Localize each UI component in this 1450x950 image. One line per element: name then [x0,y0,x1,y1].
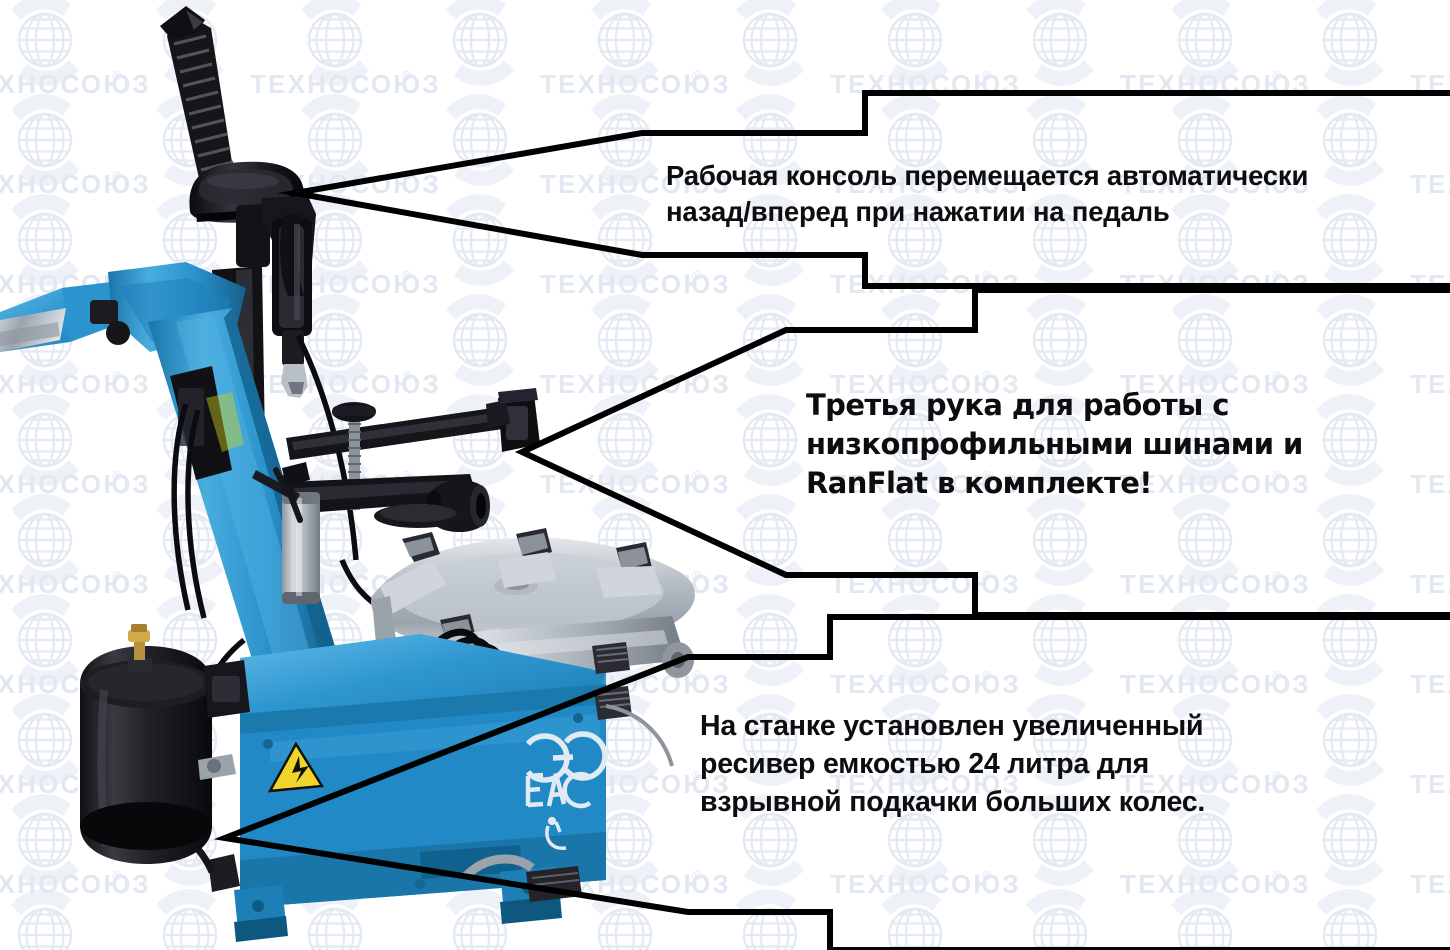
callout-3-line-3: взрывной подкачки больших колес. [700,784,1205,822]
callout-2-line-1: Третья рука для работы с [806,386,1303,425]
callout-third-arm-text: Третья рука для работы с низкопрофильным… [806,386,1303,503]
callout-air-receiver-text: На станке установлен увеличенный ресивер… [700,708,1205,822]
callout-working-console-text: Рабочая консоль перемещается автоматичес… [666,158,1308,231]
callout-3-line-2: ресивер емкостью 24 литра для [700,746,1205,784]
callout-1-line-2: назад/вперед при нажатии на педаль [666,194,1308,230]
callout-1-line-1: Рабочая консоль перемещается автоматичес… [666,158,1308,194]
callout-3-line-1: На станке установлен увеличенный [700,708,1205,746]
callout-2-line-2: низкопрофильными шинами и [806,425,1303,464]
callout-2-line-3: RanFlat в комплекте! [806,464,1303,503]
image-canvas: ТЕХНОСОЮЗ ® [0,0,1450,950]
